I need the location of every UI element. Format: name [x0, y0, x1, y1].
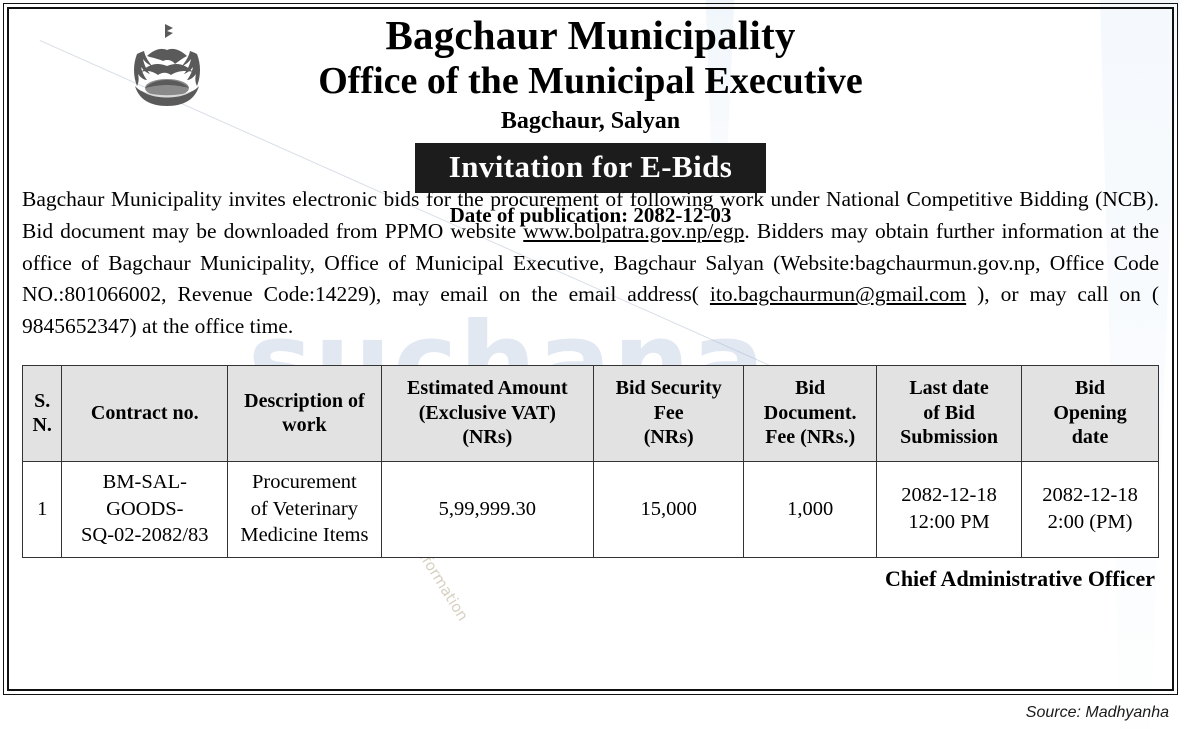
cell-last-date-of-bid-submission: 2082-12-18 12:00 PM: [877, 461, 1022, 557]
th-bdf-line-1: Bid: [747, 376, 873, 400]
th-last-date-of-bid-submission: Last date of Bid Submission: [877, 365, 1022, 461]
cell-bid-security-fee: 15,000: [594, 461, 744, 557]
th-estimated-amount: Estimated Amount (Exclusive VAT) (NRs): [381, 365, 593, 461]
cell-contract-no: BM-SAL- GOODS- SQ-02-2082/83: [62, 461, 228, 557]
notice-page: suchana redefining how you access inform…: [0, 0, 1181, 730]
th-est-line-3: (NRs): [385, 425, 590, 449]
table-header-row: S. N. Contract no. Description of work E…: [23, 365, 1159, 461]
nepal-emblem-icon: [117, 20, 217, 120]
banner-wrapper: Invitation for E-Bids: [22, 143, 1159, 193]
th-open-line-1: Bid: [1025, 376, 1155, 400]
cell-bid-opening-date: 2082-12-18 2:00 (PM): [1022, 461, 1159, 557]
contract-no-line-2: GOODS-: [65, 496, 224, 523]
notice-content: Bagchaur Municipality Office of the Muni…: [0, 0, 1181, 592]
th-est-line-2: (Exclusive VAT): [385, 401, 590, 425]
opening-date-line-1: 2082-12-18: [1025, 482, 1155, 509]
contract-no-line-1: BM-SAL-: [65, 469, 224, 496]
contract-no-line-3: SQ-02-2082/83: [65, 522, 224, 549]
last-date-line-1: 2082-12-18: [880, 482, 1018, 509]
publication-date: Date of publication: 2082-12-03: [22, 203, 1159, 228]
th-description-of-work: Description of work: [228, 365, 381, 461]
th-est-line-1: Estimated Amount: [385, 376, 590, 400]
email-link[interactable]: ito.bagchaurmun@gmail.com: [710, 282, 966, 306]
cell-bid-document-fee: 1,000: [744, 461, 877, 557]
last-date-line-2: 12:00 PM: [880, 509, 1018, 536]
th-last-line-2: of Bid: [880, 401, 1018, 425]
table-row: 1 BM-SAL- GOODS- SQ-02-2082/83 Procureme…: [23, 461, 1159, 557]
source-credit: Source: Madhyanha: [1026, 704, 1169, 722]
th-bid-opening-date: Bid Opening date: [1022, 365, 1159, 461]
description-line-3: Medicine Items: [231, 522, 377, 549]
cell-description-of-work: Procurement of Veterinary Medicine Items: [228, 461, 381, 557]
th-bsf-line-3: (NRs): [597, 425, 740, 449]
description-line-1: Procurement: [231, 469, 377, 496]
th-bdf-line-3: Fee (NRs.): [747, 425, 873, 449]
description-line-2: of Veterinary: [231, 496, 377, 523]
th-serial-number: S. N.: [23, 365, 62, 461]
notice-banner-title: Invitation for E-Bids: [415, 143, 766, 193]
th-open-line-3: date: [1025, 425, 1155, 449]
signatory-title: Chief Administrative Officer: [22, 566, 1159, 592]
masthead: Bagchaur Municipality Office of the Muni…: [22, 0, 1159, 176]
th-bid-document-fee: Bid Document. Fee (NRs.): [744, 365, 877, 461]
th-sn-line-1: S.: [26, 389, 58, 413]
th-bid-security-fee: Bid Security Fee (NRs): [594, 365, 744, 461]
cell-estimated-amount: 5,99,999.30: [381, 461, 593, 557]
th-last-line-3: Submission: [880, 425, 1018, 449]
opening-date-line-2: 2:00 (PM): [1025, 509, 1155, 536]
th-contract-line-1: Contract no.: [65, 401, 224, 425]
th-bsf-line-1: Bid Security: [597, 376, 740, 400]
th-open-line-2: Opening: [1025, 401, 1155, 425]
cell-serial-number: 1: [23, 461, 62, 557]
th-desc-line-2: work: [231, 413, 377, 437]
th-contract-no: Contract no.: [62, 365, 228, 461]
th-bdf-line-2: Document.: [747, 401, 873, 425]
th-bsf-line-2: Fee: [597, 401, 740, 425]
th-sn-line-2: N.: [26, 413, 58, 437]
bids-table: S. N. Contract no. Description of work E…: [22, 365, 1159, 558]
th-last-line-1: Last date: [880, 376, 1018, 400]
th-desc-line-1: Description of: [231, 389, 377, 413]
